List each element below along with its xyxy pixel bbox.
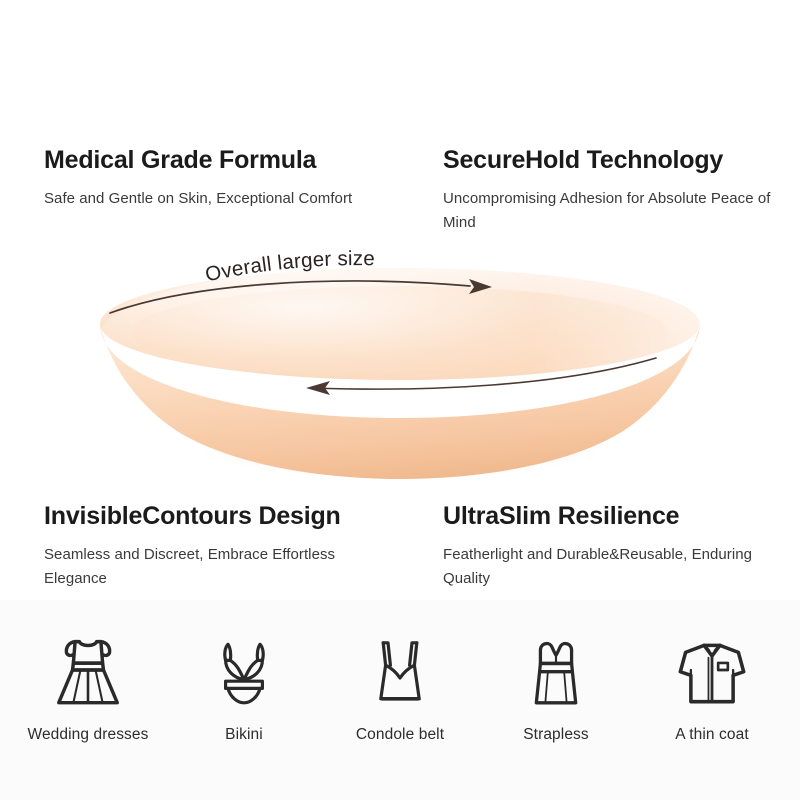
- usage-label-wedding-dresses: Wedding dresses: [28, 726, 149, 744]
- usage-scenarios-band: Wedding dresses: [0, 600, 800, 800]
- usage-label-thin-coat: A thin coat: [675, 726, 748, 744]
- feature-description-ultraslim: Featherlight and Durable&Reusable, Endur…: [443, 543, 783, 592]
- feature-title-ultraslim: UltraSlim Resilience: [443, 503, 783, 531]
- product-edge-fade: [99, 267, 701, 381]
- feature-title-medical-grade: Medical Grade Formula: [44, 147, 384, 175]
- shirt-icon: [662, 622, 762, 718]
- feature-block-ultraslim: UltraSlim Resilience Featherlight and Du…: [443, 503, 783, 591]
- feature-description-securehold: Uncompromising Adhesion for Absolute Pea…: [443, 187, 783, 236]
- usage-item-bikini: Bikini: [169, 600, 319, 744]
- feature-block-securehold: SecureHold Technology Uncompromising Adh…: [443, 147, 783, 235]
- hero-product-illustration: Overall larger size: [0, 240, 800, 500]
- feature-description-medical-grade: Safe and Gentle on Skin, Exceptional Com…: [44, 187, 384, 211]
- feature-block-invisible-contours: InvisibleContours Design Seamless and Di…: [44, 503, 384, 591]
- usage-item-strapless: Strapless: [481, 600, 631, 744]
- usage-label-condole-belt: Condole belt: [356, 726, 444, 744]
- usage-item-thin-coat: A thin coat: [637, 600, 787, 744]
- feature-title-invisible-contours: InvisibleContours Design: [44, 503, 384, 531]
- dress-icon: [38, 622, 138, 718]
- bikini-icon: [194, 622, 294, 718]
- product-feature-infographic: Medical Grade Formula Safe and Gentle on…: [0, 0, 800, 800]
- usage-label-bikini: Bikini: [225, 726, 263, 744]
- camisole-icon: [350, 622, 450, 718]
- feature-block-medical-grade: Medical Grade Formula Safe and Gentle on…: [44, 147, 384, 211]
- product-image: Overall larger size: [0, 240, 800, 500]
- feature-description-invisible-contours: Seamless and Discreet, Embrace Effortles…: [44, 543, 384, 592]
- usage-scenarios-row: Wedding dresses: [0, 600, 800, 800]
- usage-item-wedding-dresses: Wedding dresses: [13, 600, 163, 744]
- strapless-dress-icon: [506, 622, 606, 718]
- usage-label-strapless: Strapless: [523, 726, 589, 744]
- feature-title-securehold: SecureHold Technology: [443, 147, 783, 175]
- usage-item-condole-belt: Condole belt: [325, 600, 475, 744]
